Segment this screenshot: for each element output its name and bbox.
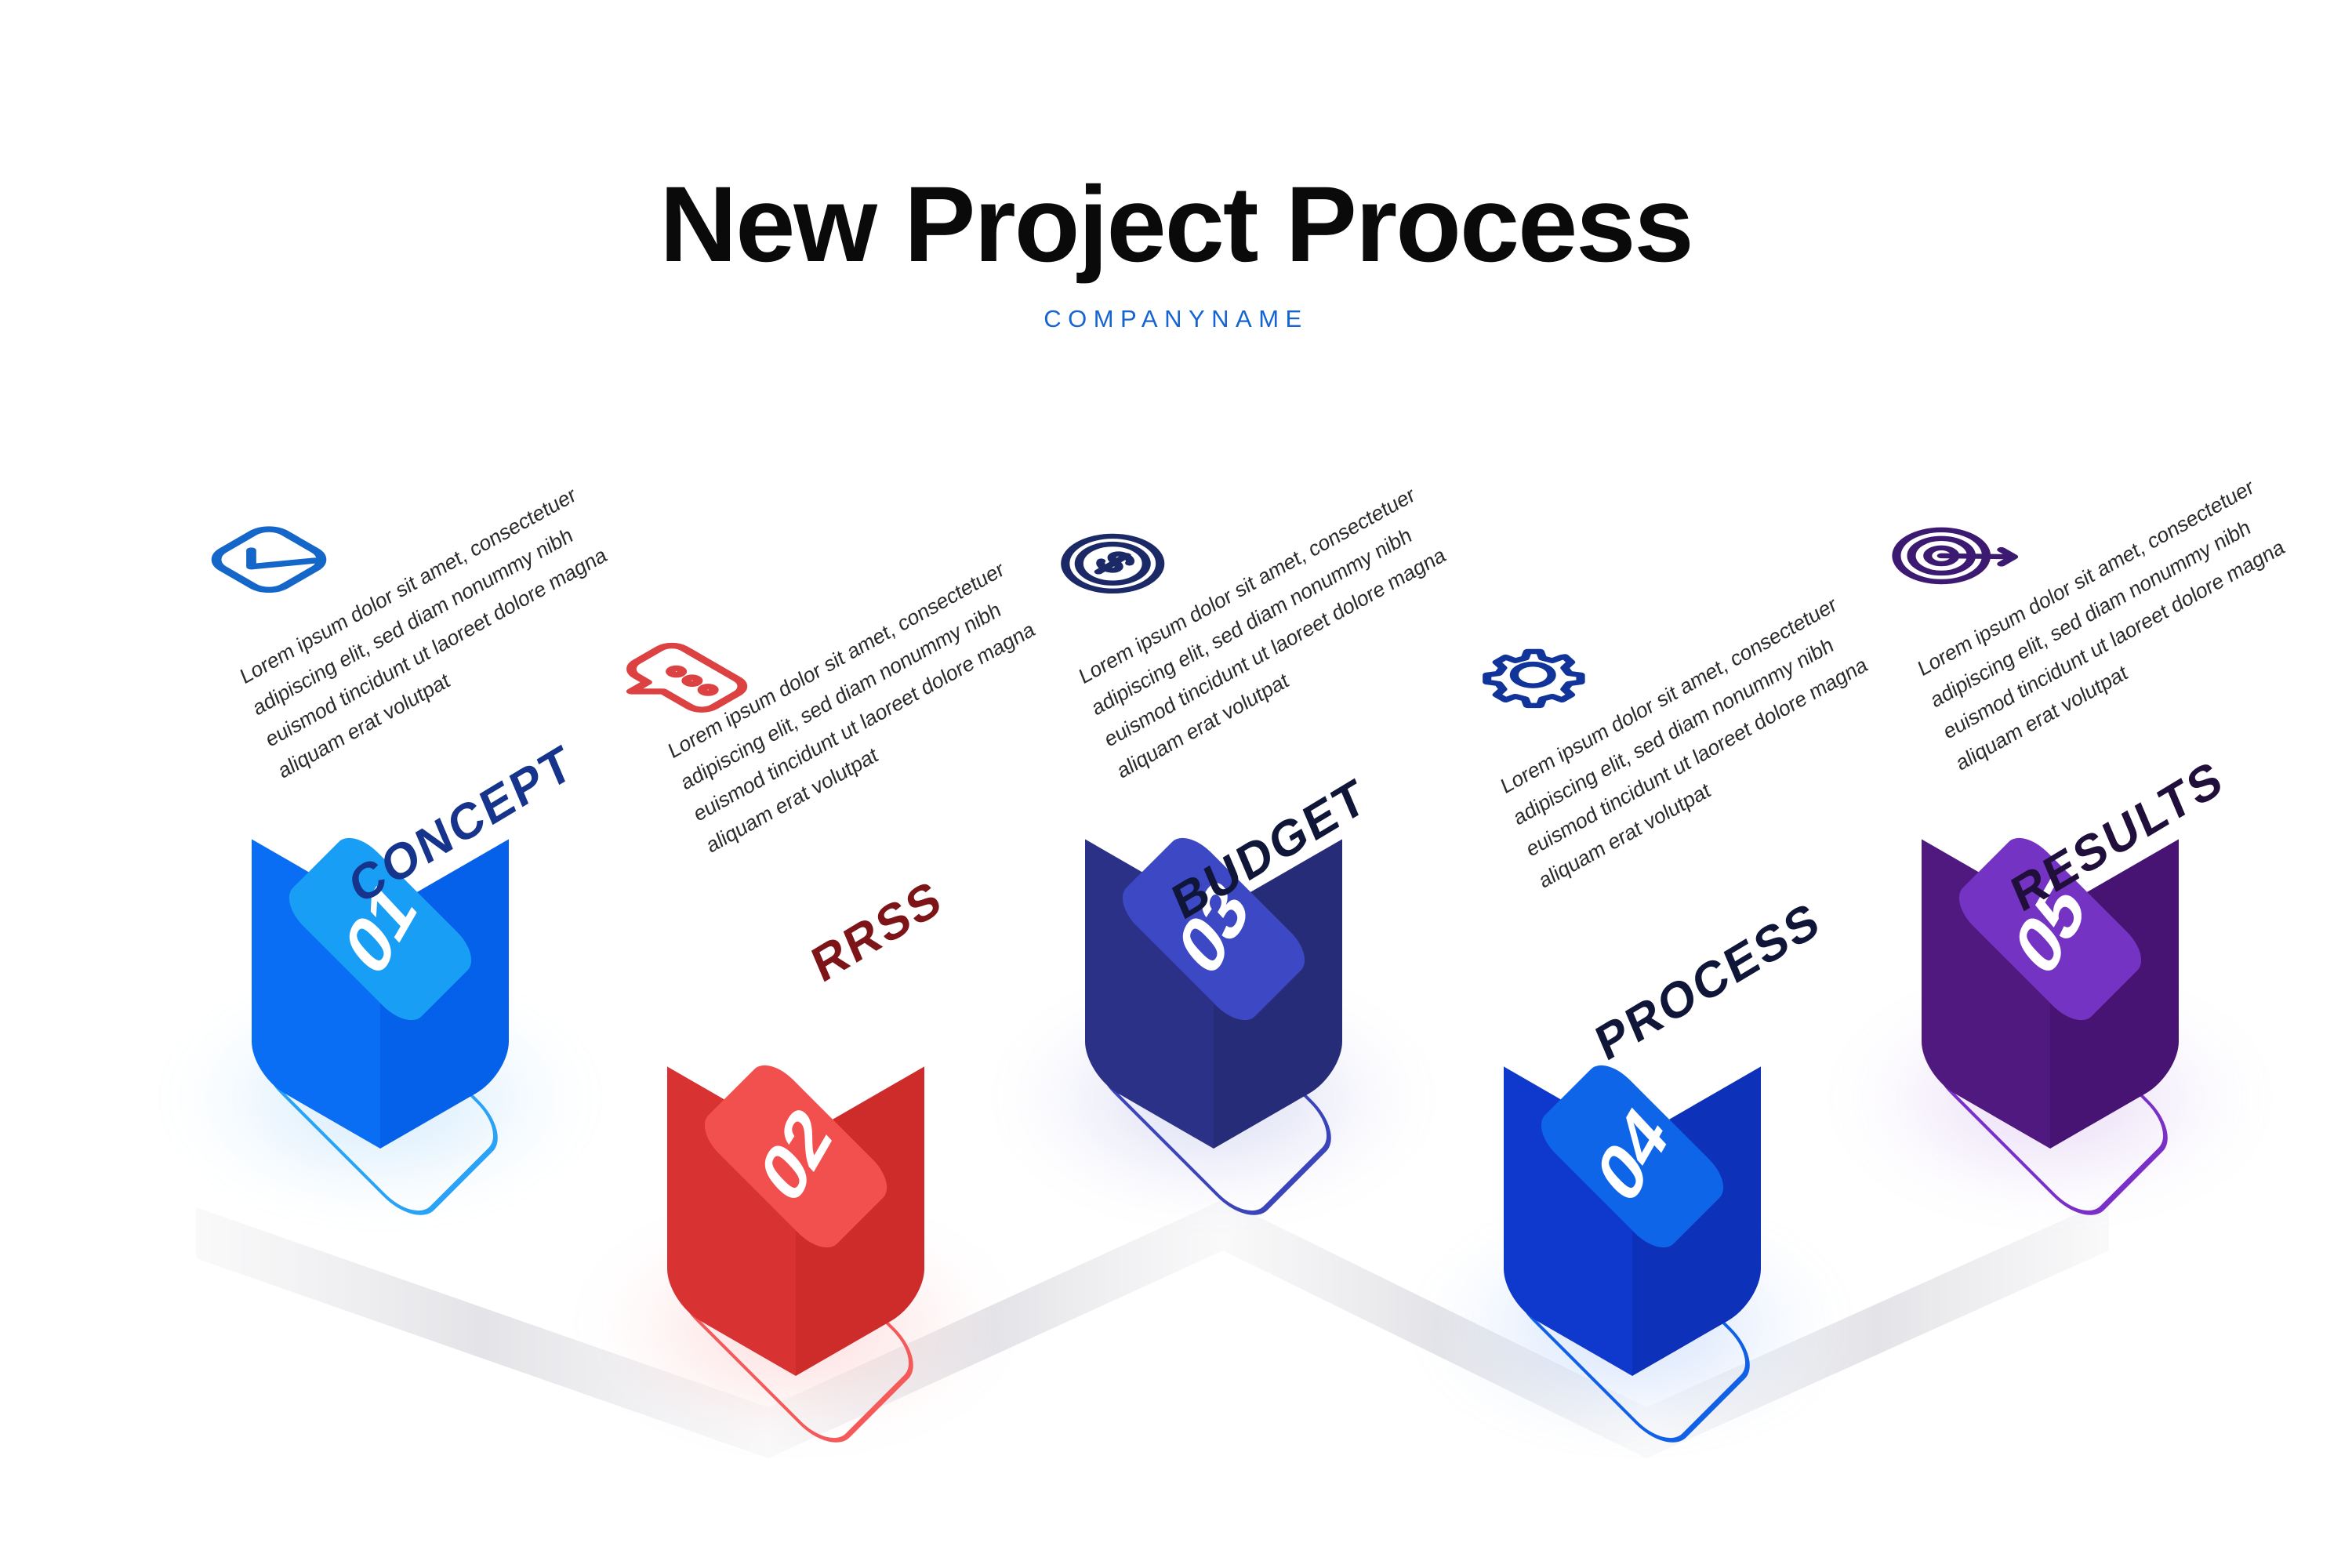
target-arrow-icon bbox=[1896, 502, 1998, 604]
connector-ribbons bbox=[0, 0, 2352, 1568]
infographic-stage: 01 CONCEPT Lorem ipsum dolor sit amet, c… bbox=[0, 0, 2352, 1568]
check-square-icon bbox=[218, 510, 320, 612]
dollar-coin-icon bbox=[1060, 510, 1162, 612]
gear-icon bbox=[1480, 621, 1582, 723]
